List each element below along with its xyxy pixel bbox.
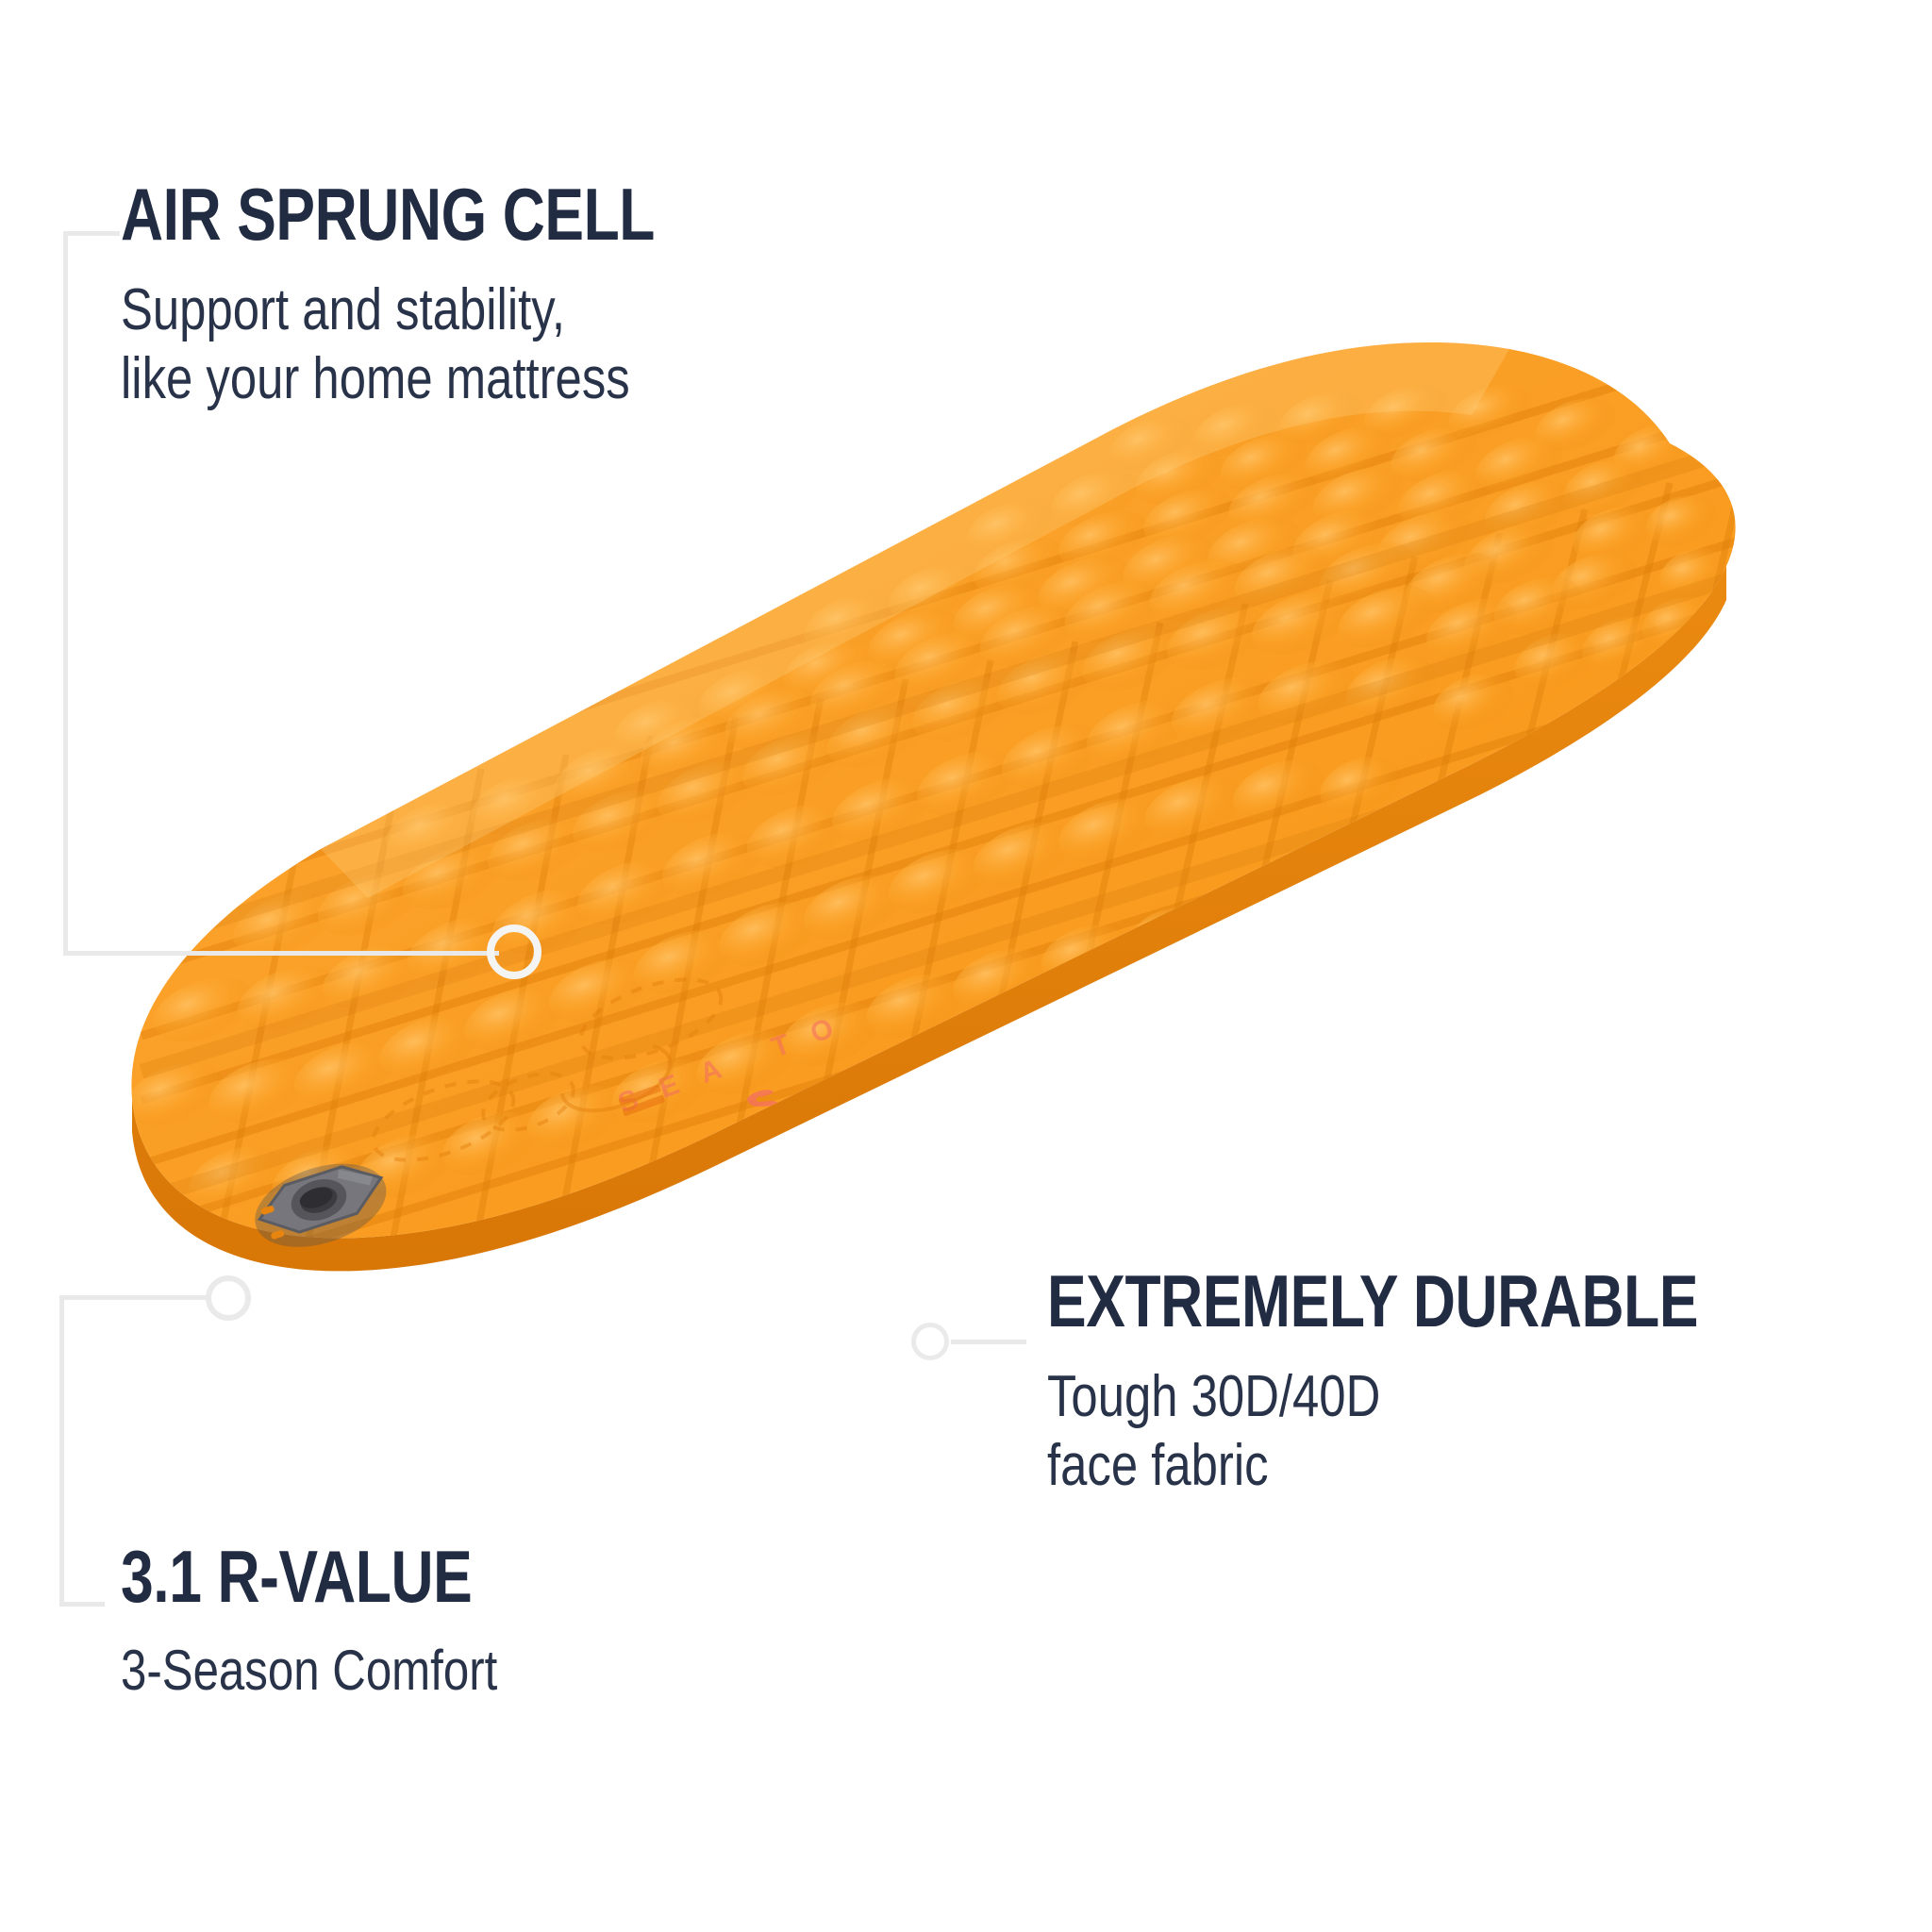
connector-rvalue-bottom-stub — [59, 1602, 105, 1607]
callout-ring-air-sprung-cell — [487, 924, 541, 979]
connector-durable-pointer — [951, 1340, 1026, 1344]
callout-body-line1: Tough 30D/40D — [1047, 1364, 1380, 1429]
callout-air-sprung-cell: AIR SPRUNG CELL Support and stability, l… — [121, 177, 1064, 413]
callout-body-r-value: 3-Season Comfort — [121, 1638, 894, 1705]
callout-r-value: 3.1 R-VALUE 3-Season Comfort — [121, 1540, 1064, 1705]
callout-body-extremely-durable: Tough 30D/40D face fabric — [1047, 1362, 1821, 1500]
callout-body-line2: face fabric — [1047, 1433, 1269, 1498]
mat-body — [131, 342, 1735, 1238]
connector-asc-pointer — [63, 951, 499, 956]
callout-body-line1: 3-Season Comfort — [121, 1639, 497, 1702]
callout-body-air-sprung-cell: Support and stability, like your home ma… — [121, 275, 894, 413]
brand-print-sea-to: SEA TO — [614, 1005, 860, 1120]
callout-ring-extremely-durable — [911, 1323, 949, 1360]
svg-text:SUMMIT: SUMMIT — [1113, 853, 1404, 988]
svg-text:SEA TO: SEA TO — [614, 1005, 860, 1120]
connector-asc-vertical — [63, 231, 68, 956]
brand-print-summit: SUMMIT — [1113, 853, 1404, 988]
connector-rvalue-vertical — [59, 1295, 64, 1607]
brand-logo-mark — [623, 1147, 718, 1230]
callout-heading-r-value: 3.1 R-VALUE — [121, 1540, 875, 1613]
inflation-valve — [244, 1148, 397, 1262]
callout-body-line1: Support and stability, — [121, 277, 565, 342]
callout-body-line2: like your home mattress — [121, 346, 630, 411]
infographic-canvas: SUMMIT SEA TO — [0, 0, 1932, 1932]
callout-extremely-durable: EXTREMELY DURABLE Tough 30D/40D face fab… — [1047, 1264, 1932, 1500]
brand-logo-s — [746, 1086, 783, 1122]
air-sprung-cell-texture: SUMMIT SEA TO — [117, 342, 1755, 1292]
callout-heading-air-sprung-cell: AIR SPRUNG CELL — [121, 177, 875, 251]
callout-heading-extremely-durable: EXTREMELY DURABLE — [1047, 1264, 1802, 1338]
mat-sidewall — [132, 566, 1726, 1271]
callout-ring-r-value — [206, 1275, 251, 1321]
connector-rvalue-pointer — [59, 1295, 210, 1300]
spec-print — [618, 1084, 665, 1117]
connector-asc-top-stub — [63, 231, 120, 236]
